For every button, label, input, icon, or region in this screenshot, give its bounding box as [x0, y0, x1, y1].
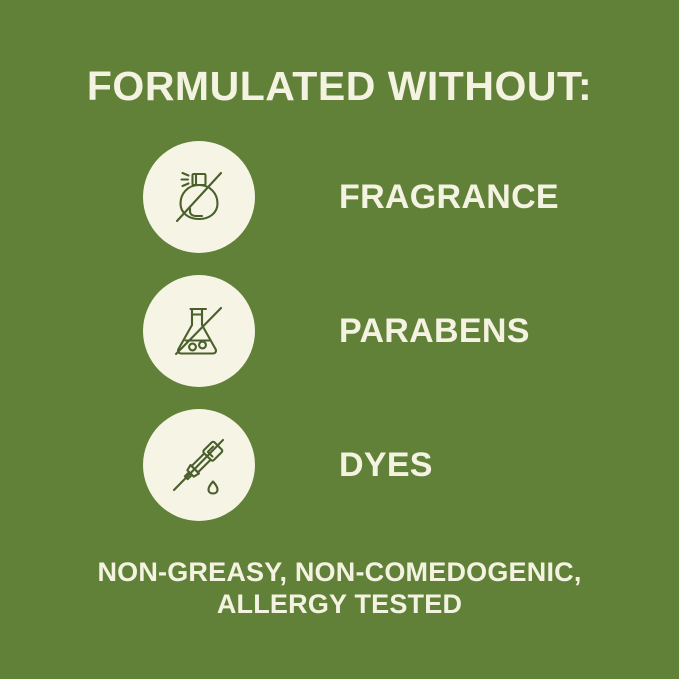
- footnote: NON-GREASY, NON-COMEDOGENIC, ALLERGY TES…: [0, 556, 679, 620]
- list-item: FRAGRANCE: [0, 141, 679, 253]
- list-item: PARABENS: [0, 275, 679, 387]
- no-fragrance-bottle-icon: [163, 161, 235, 233]
- list-item: DYES: [0, 409, 679, 521]
- claim-label-dyes: DYES: [339, 448, 433, 482]
- claim-badge-dyes: [143, 409, 255, 521]
- claim-badge-parabens: [143, 275, 255, 387]
- formulated-without-panel: FORMULATED WITHOUT:: [0, 0, 679, 679]
- page-title: FORMULATED WITHOUT:: [0, 66, 679, 107]
- no-parabens-flask-icon: [163, 295, 235, 367]
- claim-label-fragrance: FRAGRANCE: [339, 180, 559, 214]
- footnote-line-1: NON-GREASY, NON-COMEDOGENIC,: [0, 556, 679, 588]
- footnote-line-2: ALLERGY TESTED: [0, 588, 679, 620]
- claims-list: FRAGRANCE: [0, 141, 679, 543]
- no-dyes-dropper-icon: [163, 429, 235, 501]
- claim-label-parabens: PARABENS: [339, 314, 530, 348]
- claim-badge-fragrance: [143, 141, 255, 253]
